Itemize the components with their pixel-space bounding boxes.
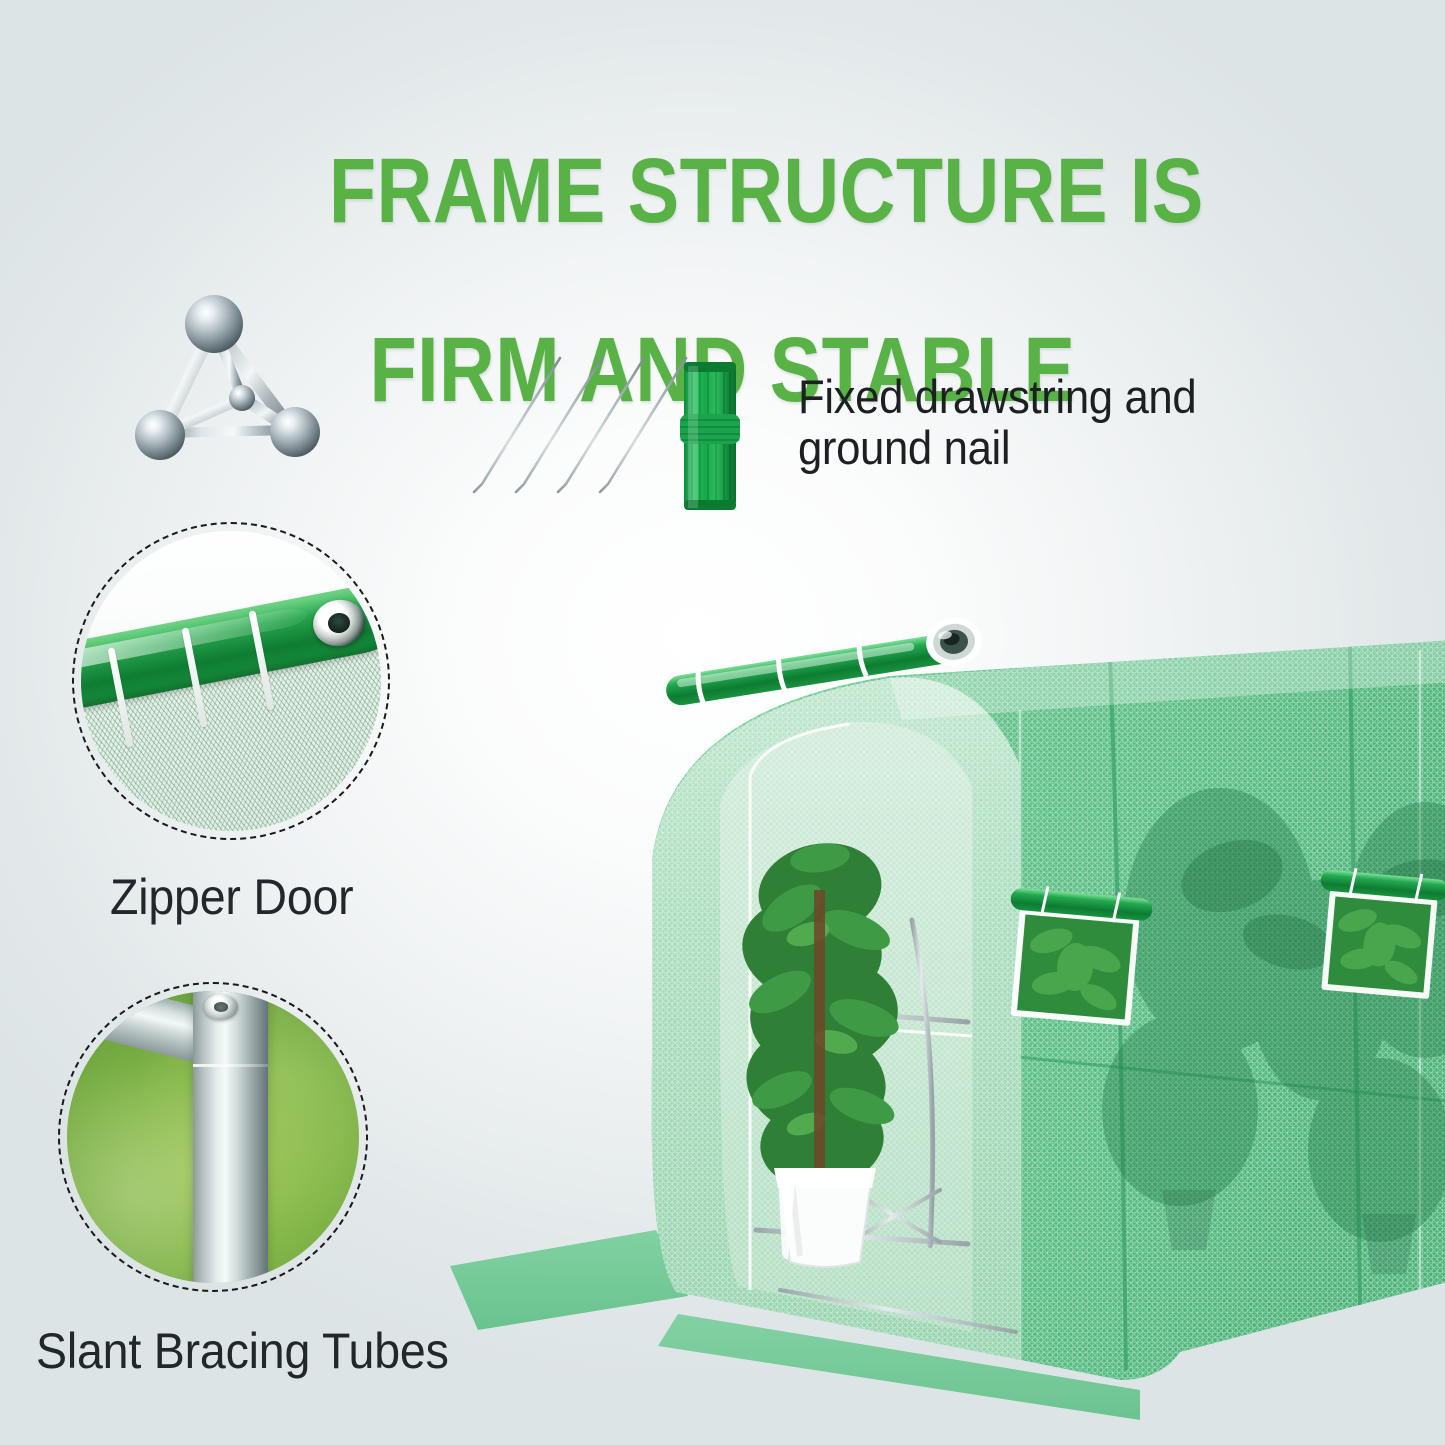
callout-dashed-ring xyxy=(58,982,368,1292)
callout-label-slant-bracing-tubes: Slant Bracing Tubes xyxy=(36,1322,449,1380)
feature-label-drawstring-line-1: Fixed drawstring and xyxy=(798,372,1337,423)
feature-label-drawstring-line-2: ground nail xyxy=(798,423,1337,474)
callout-zipper-door xyxy=(72,522,390,840)
greenhouse-product-photo xyxy=(420,590,1445,1420)
feature-label-drawstring: Fixed drawstring and ground nail xyxy=(798,372,1337,474)
callout-slant-bracing-tubes xyxy=(58,982,368,1292)
infographic-canvas: FRAME STRUCTURE IS FIRM AND STABLE xyxy=(0,0,1445,1445)
callout-label-zipper-door: Zipper Door xyxy=(110,868,353,926)
tetrahedron-connector-icon xyxy=(132,278,332,473)
callout-dashed-ring xyxy=(72,522,390,840)
headline-line-1: FRAME STRUCTURE IS xyxy=(329,140,1204,242)
ground-nails-and-rope-icon xyxy=(462,344,762,524)
